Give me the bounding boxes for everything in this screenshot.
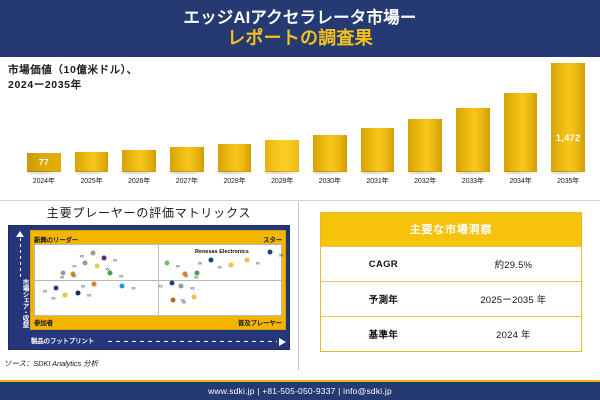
matrix-data-point-label: xx	[72, 264, 76, 269]
x-axis-tick: 2024年	[20, 176, 68, 186]
matrix-data-point	[164, 261, 169, 266]
matrix-data-point	[120, 283, 125, 288]
bar-2034年[interactable]	[504, 93, 537, 172]
quadrant-label-star: スター	[263, 234, 282, 244]
chart-plot-area: 771,472	[20, 59, 592, 172]
bar-slot: 1,472	[551, 63, 584, 172]
matrix-data-point	[267, 250, 272, 255]
source-note: ソース：SDKI Analytics 分析	[4, 358, 98, 369]
matrix-data-point	[208, 257, 213, 262]
matrix-data-point-label: xx	[217, 265, 221, 270]
matrix-data-point	[62, 293, 67, 298]
bar-2033年[interactable]	[456, 108, 489, 172]
table-row: 基準年2024 年	[321, 317, 582, 352]
matrix-callout-renesas: Renesas Electronics	[195, 249, 249, 255]
insight-key: 予測年	[321, 282, 446, 317]
bar-2030年[interactable]	[313, 135, 346, 172]
x-axis-tick: 2031年	[354, 176, 402, 186]
bar-slot	[313, 135, 346, 172]
table-row: 予測年2025ー2035 年	[321, 282, 582, 317]
quadrant-label-emerging-leader: 新興のリーダー	[34, 234, 78, 244]
matrix-y-axis: 市場シェア・収益	[12, 230, 28, 347]
table-row: CAGR約29.5%	[321, 247, 582, 282]
matrix-data-point	[92, 281, 97, 286]
matrix-data-point	[244, 258, 249, 263]
matrix-data-point-label: xx	[190, 286, 194, 291]
matrix-data-point	[61, 271, 66, 276]
matrix-data-point	[90, 251, 95, 256]
matrix-data-point	[170, 297, 175, 302]
player-evaluation-matrix-panel: 主要プレーヤーの評価マトリックス 市場シェア・収益 新興のリーダー スター 参加…	[0, 200, 298, 384]
matrix-box: 市場シェア・収益 新興のリーダー スター 参加者 普及プレーヤー xxxxxxx…	[8, 225, 290, 350]
matrix-data-point	[179, 283, 184, 288]
report-title-line2: レポートの調査果	[227, 28, 373, 48]
matrix-data-point-label: xx	[176, 264, 180, 269]
x-axis-tick: 2032年	[401, 176, 449, 186]
matrix-data-point-label: xx	[198, 260, 202, 265]
bar-2029年[interactable]	[265, 140, 298, 172]
bar-slot	[265, 140, 298, 172]
matrix-data-point	[101, 255, 106, 260]
matrix-x-axis-label: 製品のフットプリント	[31, 335, 94, 345]
insight-key: 基準年	[321, 317, 446, 352]
bar-2026年[interactable]	[122, 150, 155, 172]
bar-slot	[218, 144, 251, 172]
bar-2027年[interactable]	[170, 147, 203, 172]
market-value-bar-chart: 市場価値（10億米ドル）、 2024ー2035年 771,472 2024年20…	[0, 57, 600, 200]
matrix-data-point-label: xx	[182, 300, 186, 305]
matrix-data-point-label: xx	[113, 258, 117, 263]
matrix-data-point	[94, 264, 99, 269]
insight-value: 2024 年	[446, 317, 582, 352]
bar-slot	[75, 152, 108, 172]
report-title-line1: エッジAIアクセラレータ市場ー	[183, 9, 416, 27]
bar-slot: 77	[27, 153, 60, 172]
matrix-quadrant-chart: 新興のリーダー スター 参加者 普及プレーヤー xxxxxxxxxxxxxxxx…	[30, 230, 286, 330]
matrix-data-point-label: xx	[72, 273, 76, 278]
matrix-data-point	[183, 272, 188, 277]
matrix-data-point	[169, 280, 174, 285]
footer-contact-text: www.sdki.jp | +81-505-050-9337 | info@sd…	[208, 386, 392, 396]
x-axis-tick: 2029年	[258, 176, 306, 186]
matrix-data-point-label: xx	[43, 289, 47, 294]
bar-slot	[361, 128, 394, 172]
matrix-data-point	[108, 271, 113, 276]
matrix-data-point	[53, 286, 58, 291]
insight-value: 約29.5%	[446, 247, 582, 282]
insights-table-head: 主要な市場洞察	[321, 213, 582, 247]
matrix-data-point-label: xx	[158, 283, 162, 288]
bar-2032年[interactable]	[408, 119, 441, 172]
matrix-data-point-label: xx	[256, 261, 260, 266]
x-axis-tick: 2028年	[211, 176, 259, 186]
key-market-insights-panel: 主要な市場洞察 CAGR約29.5%予測年2025ー2035 年基準年2024 …	[299, 200, 600, 384]
footer-contact-bar: www.sdki.jp | +81-505-050-9337 | info@sd…	[0, 382, 600, 400]
bar-slot	[408, 119, 441, 172]
bar-value-label: 77	[27, 157, 60, 167]
arrow-right-icon	[279, 338, 286, 346]
matrix-data-point-label: xx	[80, 254, 84, 259]
bar-slot	[122, 150, 155, 172]
x-axis-tick: 2030年	[306, 176, 354, 186]
quadrant-label-participant: 参加者	[34, 317, 53, 327]
bar-2024年[interactable]: 77	[27, 153, 60, 172]
key-insights-table: 主要な市場洞察 CAGR約29.5%予測年2025ー2035 年基準年2024 …	[320, 212, 582, 352]
insight-key: CAGR	[321, 247, 446, 282]
x-axis-tick: 2026年	[115, 176, 163, 186]
matrix-scatter-area: xxxxxxxxxxxxxxxxxxxxxxxxxxxxxxxxxxxxxxxx…	[34, 244, 282, 316]
insight-value: 2025ー2035 年	[446, 282, 582, 317]
x-axis-tick: 2033年	[449, 176, 497, 186]
matrix-data-point-label: xx	[131, 286, 135, 291]
bar-2035年[interactable]: 1,472	[551, 63, 584, 172]
bar-2028年[interactable]	[218, 144, 251, 172]
matrix-data-point	[191, 294, 196, 299]
matrix-data-point-label: xx	[87, 293, 91, 298]
bar-value-label: 1,472	[551, 133, 584, 144]
insights-table-title: 主要な市場洞察	[321, 213, 582, 247]
matrix-data-point-label: xx	[51, 296, 55, 301]
bar-2025年[interactable]	[75, 152, 108, 172]
matrix-data-point-label: xx	[194, 275, 198, 280]
matrix-title: 主要プレーヤーの評価マトリックス	[0, 204, 298, 221]
y-axis-dashed-line	[20, 238, 21, 278]
bar-slot	[170, 147, 203, 172]
x-axis-tick: 2025年	[68, 176, 116, 186]
matrix-y-axis-label: 市場シェア・収益	[13, 279, 27, 327]
matrix-data-point-label: xx	[119, 273, 123, 278]
matrix-data-point	[76, 290, 81, 295]
insights-table-body: CAGR約29.5%予測年2025ー2035 年基準年2024 年	[321, 247, 582, 352]
matrix-data-point	[83, 261, 88, 266]
arrow-up-icon	[16, 231, 24, 237]
table-header-row: 主要な市場洞察	[321, 213, 582, 247]
report-header: エッジAIアクセラレータ市場ー レポートの調査果	[0, 0, 600, 57]
x-axis-tick: 2034年	[497, 176, 545, 186]
x-axis-tick: 2035年	[544, 176, 592, 186]
matrix-x-axis: 製品のフットプリント	[30, 332, 286, 346]
matrix-data-point-label: xx	[279, 252, 283, 257]
bar-2031年[interactable]	[361, 128, 394, 172]
x-axis-dashed-line	[108, 341, 277, 342]
matrix-data-point	[228, 262, 233, 267]
bar-slot	[504, 93, 537, 172]
x-axis-tick: 2027年	[163, 176, 211, 186]
bar-slot	[456, 108, 489, 172]
quadrant-label-pervasive-player: 普及プレーヤー	[238, 317, 282, 327]
matrix-data-point-label: xx	[81, 284, 85, 289]
lower-panels: 主要プレーヤーの評価マトリックス 市場シェア・収益 新興のリーダー スター 参加…	[0, 200, 600, 384]
